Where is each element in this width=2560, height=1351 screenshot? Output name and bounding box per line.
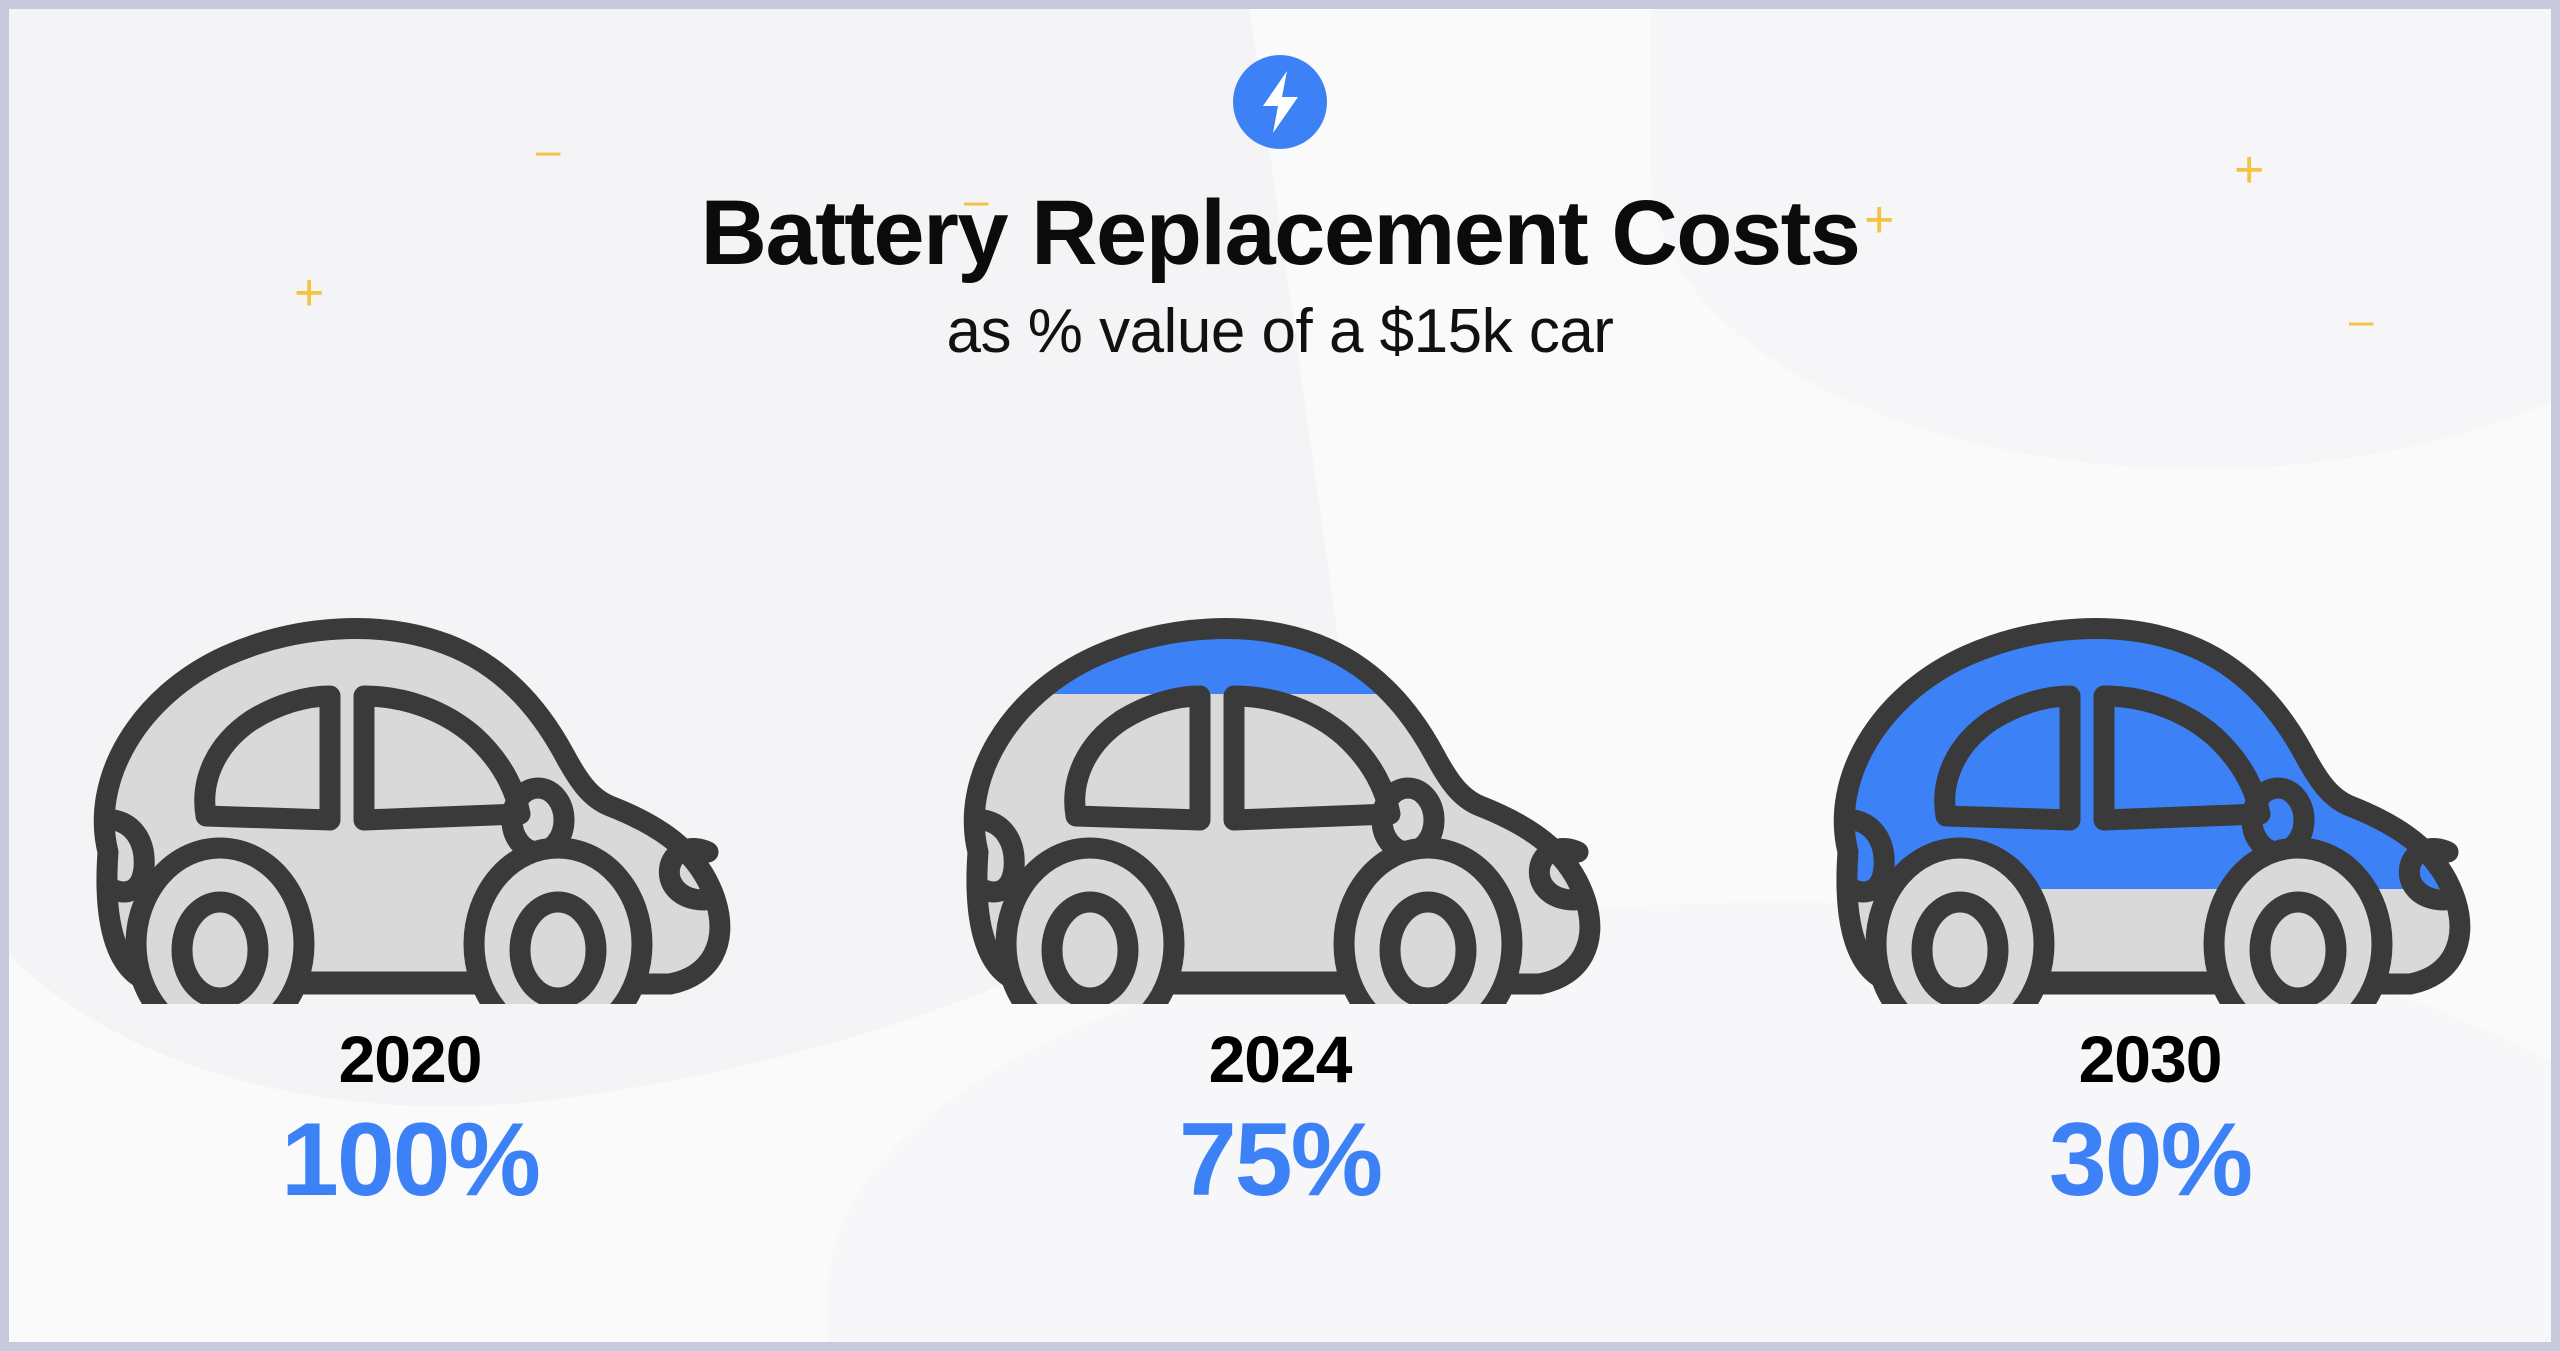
percent-label: 75%: [1179, 1108, 1381, 1212]
car-rear-hub: [1922, 902, 1998, 998]
car-pictogram-2020: [30, 584, 790, 1004]
year-label: 2030: [2079, 1026, 2222, 1092]
header: Battery Replacement Costs as % value of …: [9, 9, 2551, 367]
car-pictogram-2024: [900, 584, 1660, 1004]
car-column-2030: 203030%: [1750, 584, 2550, 1212]
year-label: 2020: [339, 1026, 482, 1092]
percent-label: 100%: [281, 1108, 539, 1212]
car-rear-hub: [1052, 902, 1128, 998]
car-front-hub: [520, 902, 596, 998]
car-pictogram-2030: [1770, 584, 2530, 1004]
car-rear-hub: [182, 902, 258, 998]
page-subtitle: as % value of a $15k car: [9, 296, 2551, 367]
infographic-canvas: ––+++– Battery Replacement Costs as % va…: [0, 0, 2560, 1351]
percent-label: 30%: [2049, 1108, 2251, 1212]
car-front-hub: [1390, 902, 1466, 998]
page-title: Battery Replacement Costs: [9, 185, 2551, 282]
lightning-bolt-icon: [1233, 55, 1327, 149]
car-column-2020: 2020100%: [10, 584, 810, 1212]
year-label: 2024: [1209, 1026, 1352, 1092]
car-comparison-row: 2020100% 202475%: [9, 584, 2551, 1212]
car-column-2024: 202475%: [880, 584, 1680, 1212]
car-front-hub: [2260, 902, 2336, 998]
